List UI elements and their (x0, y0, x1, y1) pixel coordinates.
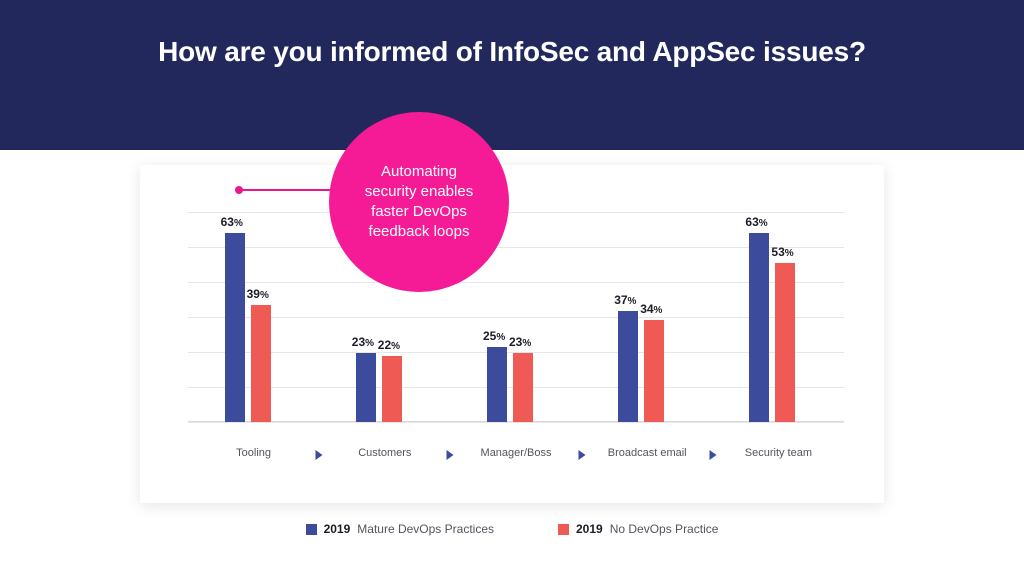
chart-gridline (188, 317, 844, 318)
chart-gridline (188, 422, 844, 423)
chart-gridline (188, 247, 844, 248)
slide-root: How are you informed of InfoSec and AppS… (0, 0, 1024, 576)
chart-gridline (188, 282, 844, 283)
bar-manager-boss-series1 (513, 353, 533, 422)
category-label-security-team: Security team (745, 447, 812, 459)
category-separator-arrow-icon (447, 450, 454, 460)
legend-swatch-icon (558, 524, 569, 535)
chart-plot-area: 63%39%23%22%25%23%37%34%63%53% (188, 212, 844, 422)
bar-value-label: 63% (221, 215, 243, 229)
category-label-customers: Customers (358, 447, 411, 459)
bar-customers-series0 (356, 353, 376, 422)
callout-connector-dot (235, 186, 243, 194)
bar-broadcast-email-series0 (618, 311, 638, 422)
bar-manager-boss-series0 (487, 347, 507, 422)
bar-tooling-series1 (251, 305, 271, 422)
legend-label: Mature DevOps Practices (357, 522, 494, 536)
bar-security-team-series1 (775, 263, 795, 422)
category-label-broadcast-email: Broadcast email (608, 447, 687, 459)
bar-value-label: 23% (509, 335, 531, 349)
bar-value-label: 63% (745, 215, 767, 229)
callout-connector-line (240, 189, 342, 191)
chart-gridline (188, 212, 844, 213)
callout-bubble: Automating security enables faster DevOp… (329, 112, 509, 292)
legend-swatch-icon (306, 524, 317, 535)
legend-year: 2019 (576, 522, 603, 536)
bar-customers-series1 (382, 356, 402, 422)
bar-value-label: 53% (771, 245, 793, 259)
bar-value-label: 25% (483, 329, 505, 343)
bar-value-label: 23% (352, 335, 374, 349)
bar-broadcast-email-series1 (644, 320, 664, 422)
bar-value-label: 22% (378, 338, 400, 352)
header-band: How are you informed of InfoSec and AppS… (0, 0, 1024, 150)
callout-text: Automating security enables faster DevOp… (353, 162, 485, 242)
category-separator-arrow-icon (316, 450, 323, 460)
bar-value-label: 37% (614, 293, 636, 307)
category-separator-arrow-icon (578, 450, 585, 460)
category-separator-arrow-icon (709, 450, 716, 460)
chart-legend: 2019Mature DevOps Practices2019No DevOps… (0, 522, 1024, 536)
legend-item-1[interactable]: 2019No DevOps Practice (558, 522, 718, 536)
category-label-row: ToolingCustomersManager/BossBroadcast em… (188, 447, 844, 467)
legend-item-0[interactable]: 2019Mature DevOps Practices (306, 522, 494, 536)
bar-value-label: 34% (640, 302, 662, 316)
legend-year: 2019 (324, 522, 351, 536)
category-label-manager-boss: Manager/Boss (481, 447, 552, 459)
page-title: How are you informed of InfoSec and AppS… (0, 36, 1024, 68)
bar-tooling-series0 (225, 233, 245, 422)
bar-value-label: 39% (247, 287, 269, 301)
legend-label: No DevOps Practice (610, 522, 719, 536)
category-label-tooling: Tooling (236, 447, 271, 459)
bar-security-team-series0 (749, 233, 769, 422)
